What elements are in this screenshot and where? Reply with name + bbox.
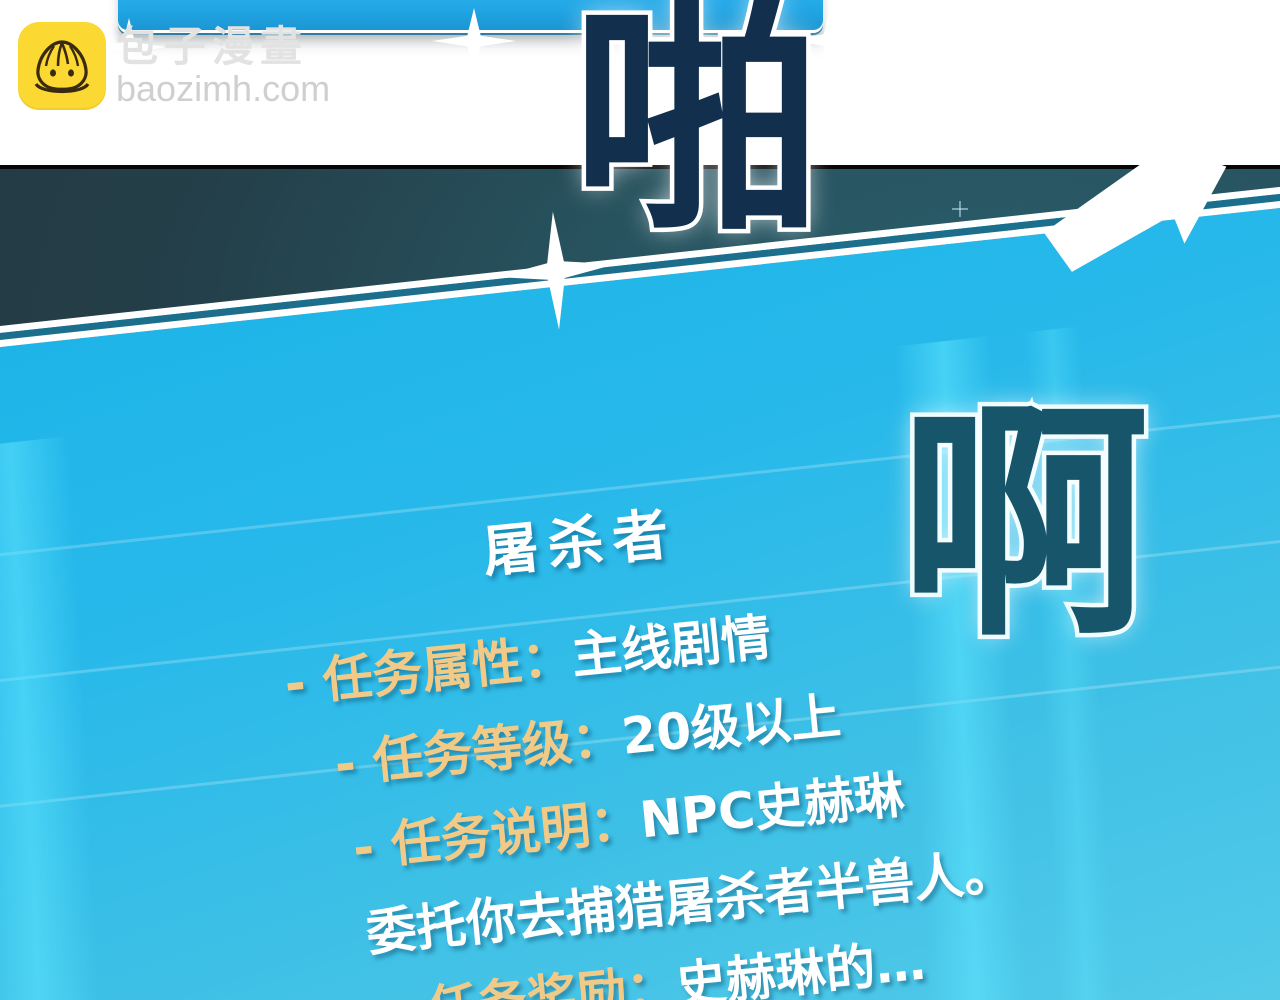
comic-page: 包子漫畫 baozimh.com bbox=[0, 0, 1280, 1000]
quest-line-label: - 任务属性： bbox=[282, 628, 574, 714]
sfx-glyph: 啪 bbox=[572, 0, 812, 264]
quest-line-value: 主线剧情 bbox=[569, 608, 774, 685]
quest-line-value: 20级以上 bbox=[619, 687, 843, 766]
sfx-text-pa: 啪 bbox=[572, 0, 812, 244]
sfx-text-ah: 啊 bbox=[900, 400, 1140, 650]
quest-line-label: - 任务等级： bbox=[332, 708, 624, 794]
quest-title: 屠杀者 bbox=[479, 489, 681, 589]
quest-line-value: NPC史赫琳 bbox=[637, 766, 907, 850]
sfx-glyph: 啊 bbox=[900, 379, 1140, 670]
quest-line-label: - 任务奖励： bbox=[387, 957, 679, 1000]
quest-line-label: - 任务说明： bbox=[350, 792, 642, 878]
quest-line-value: 史赫琳的… bbox=[674, 933, 928, 1000]
